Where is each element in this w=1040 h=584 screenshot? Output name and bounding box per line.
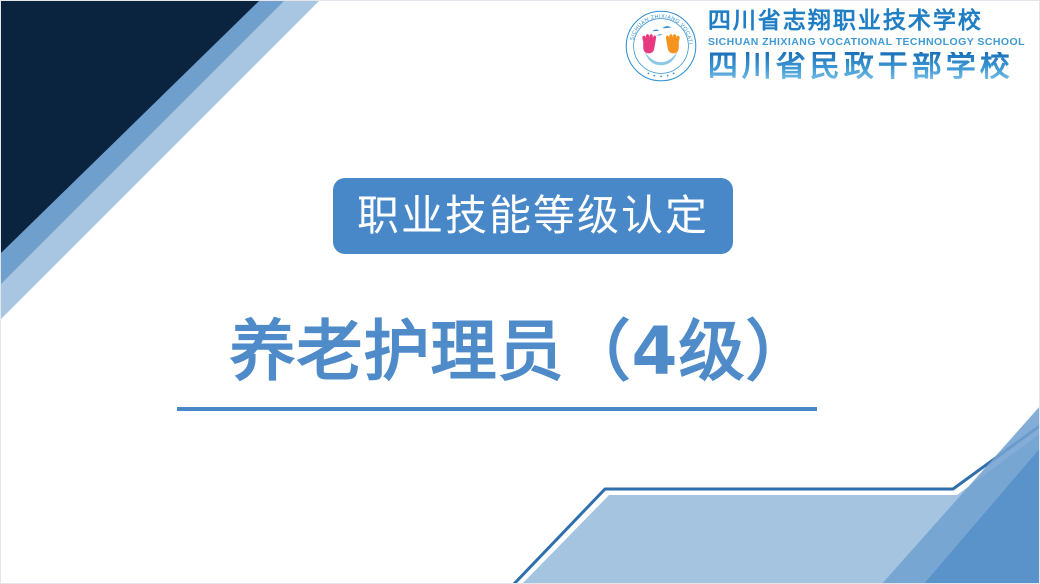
top-left-mid-blue-stripe	[1, 1, 284, 284]
bottom-right-corner-sliver	[881, 405, 1040, 584]
school-logo-block: SICHUAN ZHIXIANG VOCATIONAL 四川省志翔职业技术学校 …	[624, 9, 1025, 83]
bottom-right-blue-corner-triangle	[881, 405, 1040, 584]
title-underline-rule	[177, 407, 817, 411]
school-emblem-icon: SICHUAN ZHIXIANG VOCATIONAL	[624, 9, 698, 83]
bottom-right-light-band	[521, 433, 1040, 584]
certification-banner: 职业技能等级认定	[333, 178, 733, 254]
presentation-slide: SICHUAN ZHIXIANG VOCATIONAL 四川省志翔职业技术学校 …	[0, 0, 1040, 584]
decorative-background	[1, 1, 1040, 584]
school-alt-name-cn: 四川省民政干部学校	[708, 52, 1014, 82]
certification-banner-label: 职业技能等级认定	[357, 195, 709, 237]
school-name-cn: 四川省志翔职业技术学校	[708, 10, 983, 33]
school-logo-text: 四川省志翔职业技术学校 SICHUAN ZHIXIANG VOCATIONAL …	[708, 10, 1025, 83]
top-left-light-blue-stripe	[1, 1, 319, 319]
top-left-navy-triangle	[1, 1, 259, 253]
page-title: 养老护理员（4级）	[1, 317, 1040, 386]
school-name-en: SICHUAN ZHIXIANG VOCATIONAL TECHNOLOGY S…	[708, 37, 1025, 48]
bottom-right-band-outline	[513, 425, 1040, 584]
